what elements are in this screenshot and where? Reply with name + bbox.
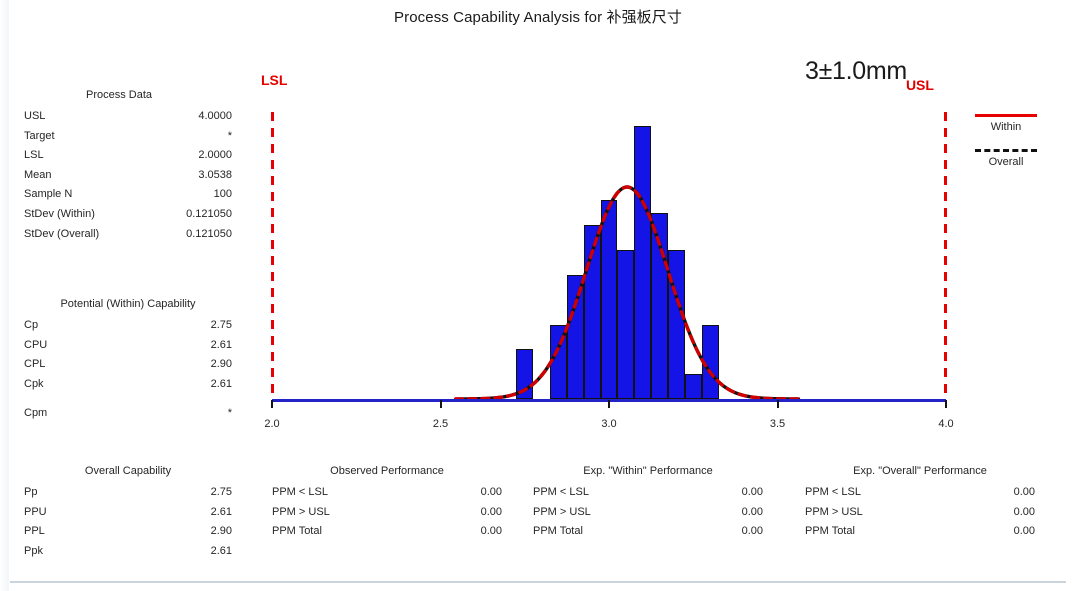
histogram-bar bbox=[634, 126, 651, 399]
stat-row-label: PPM < LSL bbox=[805, 483, 861, 503]
stat-row: PPM < LSL0.00 bbox=[533, 483, 763, 503]
x-axis-tick bbox=[271, 400, 273, 408]
legend: Within Overall bbox=[963, 108, 1049, 170]
stat-row: USL4.0000 bbox=[24, 107, 232, 127]
stat-row-value: 0.00 bbox=[1014, 503, 1035, 523]
histogram-bar bbox=[685, 374, 702, 399]
process-data-rows: USL4.0000Target*LSL2.0000Mean3.0538Sampl… bbox=[24, 107, 232, 244]
stat-row-value: 3.0538 bbox=[198, 166, 232, 186]
legend-label-overall: Overall bbox=[963, 154, 1049, 170]
x-axis-tick bbox=[777, 400, 779, 408]
x-axis-tick-label: 2.0 bbox=[264, 418, 279, 430]
stat-row: Target* bbox=[24, 127, 232, 147]
stat-row-value: 0.121050 bbox=[186, 225, 232, 245]
stat-row-value: 100 bbox=[214, 185, 232, 205]
stat-row-label: PPU bbox=[24, 503, 47, 523]
stat-row-label: PPM > USL bbox=[533, 503, 591, 523]
x-axis-tick bbox=[440, 400, 442, 408]
x-axis-tick-label: 4.0 bbox=[938, 418, 953, 430]
histogram-bar bbox=[617, 250, 634, 399]
stat-row-value: 0.00 bbox=[742, 503, 763, 523]
histogram-bar bbox=[702, 325, 719, 399]
stat-row-label: CPU bbox=[24, 336, 47, 356]
overall-capability-rows: Pp2.75PPU2.61PPL2.90Ppk2.61 bbox=[24, 483, 232, 561]
stat-row-label: PPM < LSL bbox=[533, 483, 589, 503]
observed-performance-rows: PPM < LSL0.00PPM > USL0.00PPM Total0.00 bbox=[272, 483, 502, 542]
histogram-bar bbox=[567, 275, 584, 399]
stat-row-label: PPM < LSL bbox=[272, 483, 328, 503]
overall-capability-title: Overall Capability bbox=[24, 465, 232, 477]
stat-row-value: 2.61 bbox=[211, 503, 232, 523]
stat-row-label: PPM > USL bbox=[272, 503, 330, 523]
stat-row-label: Cpm bbox=[24, 404, 47, 424]
stat-row-value: 0.00 bbox=[481, 503, 502, 523]
stat-row-label: PPM Total bbox=[533, 522, 583, 542]
stat-row-label: Sample N bbox=[24, 185, 72, 205]
stat-row: LSL2.0000 bbox=[24, 146, 232, 166]
stat-row-label: Pp bbox=[24, 483, 37, 503]
stat-row: PPU2.61 bbox=[24, 503, 232, 523]
stat-row: PPM < LSL0.00 bbox=[805, 483, 1035, 503]
stat-row-value: 2.61 bbox=[211, 542, 232, 562]
legend-swatch-within-icon bbox=[975, 114, 1037, 117]
stat-row-value: 2.75 bbox=[211, 316, 232, 336]
stat-row: CPL2.90 bbox=[24, 355, 232, 375]
exp-overall-performance-block: Exp. "Overall" Performance PPM < LSL0.00… bbox=[805, 465, 1035, 542]
histogram-bar bbox=[584, 225, 601, 399]
stat-row: Cpm* bbox=[24, 404, 232, 424]
stat-row: Cpk2.61 bbox=[24, 375, 232, 395]
x-axis-tick-label: 2.5 bbox=[433, 418, 448, 430]
stat-row-value: 2.0000 bbox=[198, 146, 232, 166]
stat-row-label: CPL bbox=[24, 355, 45, 375]
stat-row: PPM Total0.00 bbox=[272, 522, 502, 542]
within-capability-title: Potential (Within) Capability bbox=[24, 298, 232, 310]
stat-row-label: Cp bbox=[24, 316, 38, 336]
stat-row: Ppk2.61 bbox=[24, 542, 232, 562]
stat-row-value: 0.00 bbox=[1014, 522, 1035, 542]
x-axis-tick-label: 3.5 bbox=[770, 418, 785, 430]
within-capability-rows: Cp2.75CPU2.61CPL2.90Cpk2.61Cpm* bbox=[24, 316, 232, 424]
stat-row: PPM < LSL0.00 bbox=[272, 483, 502, 503]
exp-overall-performance-rows: PPM < LSL0.00PPM > USL0.00PPM Total0.00 bbox=[805, 483, 1035, 542]
legend-label-within: Within bbox=[963, 119, 1049, 135]
stat-row-value: 2.90 bbox=[211, 355, 232, 375]
x-axis-tick bbox=[945, 400, 947, 408]
stat-row-value: 0.00 bbox=[481, 522, 502, 542]
x-axis-tick bbox=[608, 400, 610, 408]
stat-row-label: Ppk bbox=[24, 542, 43, 562]
stat-row: StDev (Overall)0.121050 bbox=[24, 225, 232, 245]
histogram-bar bbox=[668, 250, 685, 399]
stat-row-value: 2.61 bbox=[211, 336, 232, 356]
exp-overall-performance-title: Exp. "Overall" Performance bbox=[805, 465, 1035, 477]
stat-row-label: PPL bbox=[24, 522, 45, 542]
stat-row-value: 2.75 bbox=[211, 483, 232, 503]
stat-row: PPM > USL0.00 bbox=[533, 503, 763, 523]
stat-row-label: StDev (Within) bbox=[24, 205, 95, 225]
histogram-bar bbox=[651, 213, 668, 399]
exp-within-performance-rows: PPM < LSL0.00PPM > USL0.00PPM Total0.00 bbox=[533, 483, 763, 542]
histogram-bar bbox=[516, 349, 533, 399]
stat-row-label: Cpk bbox=[24, 375, 44, 395]
legend-swatch-overall-icon bbox=[975, 149, 1037, 152]
stat-row-label: PPM Total bbox=[805, 522, 855, 542]
stat-row: Sample N100 bbox=[24, 185, 232, 205]
stat-row-value: 2.90 bbox=[211, 522, 232, 542]
stat-row-label: PPM > USL bbox=[805, 503, 863, 523]
stat-row-label: Target bbox=[24, 127, 55, 147]
stat-row: Mean3.0538 bbox=[24, 166, 232, 186]
stat-row: Cp2.75 bbox=[24, 316, 232, 336]
stat-row-label: StDev (Overall) bbox=[24, 225, 99, 245]
page-bottom-rule bbox=[10, 581, 1066, 583]
stat-row-value: * bbox=[228, 127, 232, 147]
histogram-bar bbox=[601, 200, 618, 399]
process-data-block: Process Data USL4.0000Target*LSL2.0000Me… bbox=[24, 89, 232, 244]
stat-row: PPM Total0.00 bbox=[805, 522, 1035, 542]
stat-row-value: 0.00 bbox=[481, 483, 502, 503]
observed-performance-block: Observed Performance PPM < LSL0.00PPM > … bbox=[272, 465, 502, 542]
stat-row-spacer bbox=[24, 394, 232, 404]
stat-row-value: 0.00 bbox=[1014, 483, 1035, 503]
exp-within-performance-block: Exp. "Within" Performance PPM < LSL0.00P… bbox=[533, 465, 763, 542]
stat-row-value: 2.61 bbox=[211, 375, 232, 395]
within-capability-block: Potential (Within) Capability Cp2.75CPU2… bbox=[24, 298, 232, 424]
overall-capability-block: Overall Capability Pp2.75PPU2.61PPL2.90P… bbox=[24, 465, 232, 561]
stat-row-value: * bbox=[228, 404, 232, 424]
stat-row: PPM > USL0.00 bbox=[805, 503, 1035, 523]
x-axis-tick-label: 3.0 bbox=[601, 418, 616, 430]
process-data-title: Process Data bbox=[24, 89, 232, 101]
stat-row-value: 0.00 bbox=[742, 483, 763, 503]
stat-row-label: USL bbox=[24, 107, 45, 127]
exp-within-performance-title: Exp. "Within" Performance bbox=[533, 465, 763, 477]
stat-row-label: Mean bbox=[24, 166, 52, 186]
stat-row-label: PPM Total bbox=[272, 522, 322, 542]
stat-row: StDev (Within)0.121050 bbox=[24, 205, 232, 225]
stat-row-label: LSL bbox=[24, 146, 44, 166]
stat-row-value: 4.0000 bbox=[198, 107, 232, 127]
stat-row: PPL2.90 bbox=[24, 522, 232, 542]
stat-row: CPU2.61 bbox=[24, 336, 232, 356]
stat-row: Pp2.75 bbox=[24, 483, 232, 503]
stat-row-value: 0.121050 bbox=[186, 205, 232, 225]
observed-performance-title: Observed Performance bbox=[272, 465, 502, 477]
stat-row: PPM Total0.00 bbox=[533, 522, 763, 542]
stat-row-value: 0.00 bbox=[742, 522, 763, 542]
stat-row: PPM > USL0.00 bbox=[272, 503, 502, 523]
histogram-bar bbox=[550, 325, 567, 399]
